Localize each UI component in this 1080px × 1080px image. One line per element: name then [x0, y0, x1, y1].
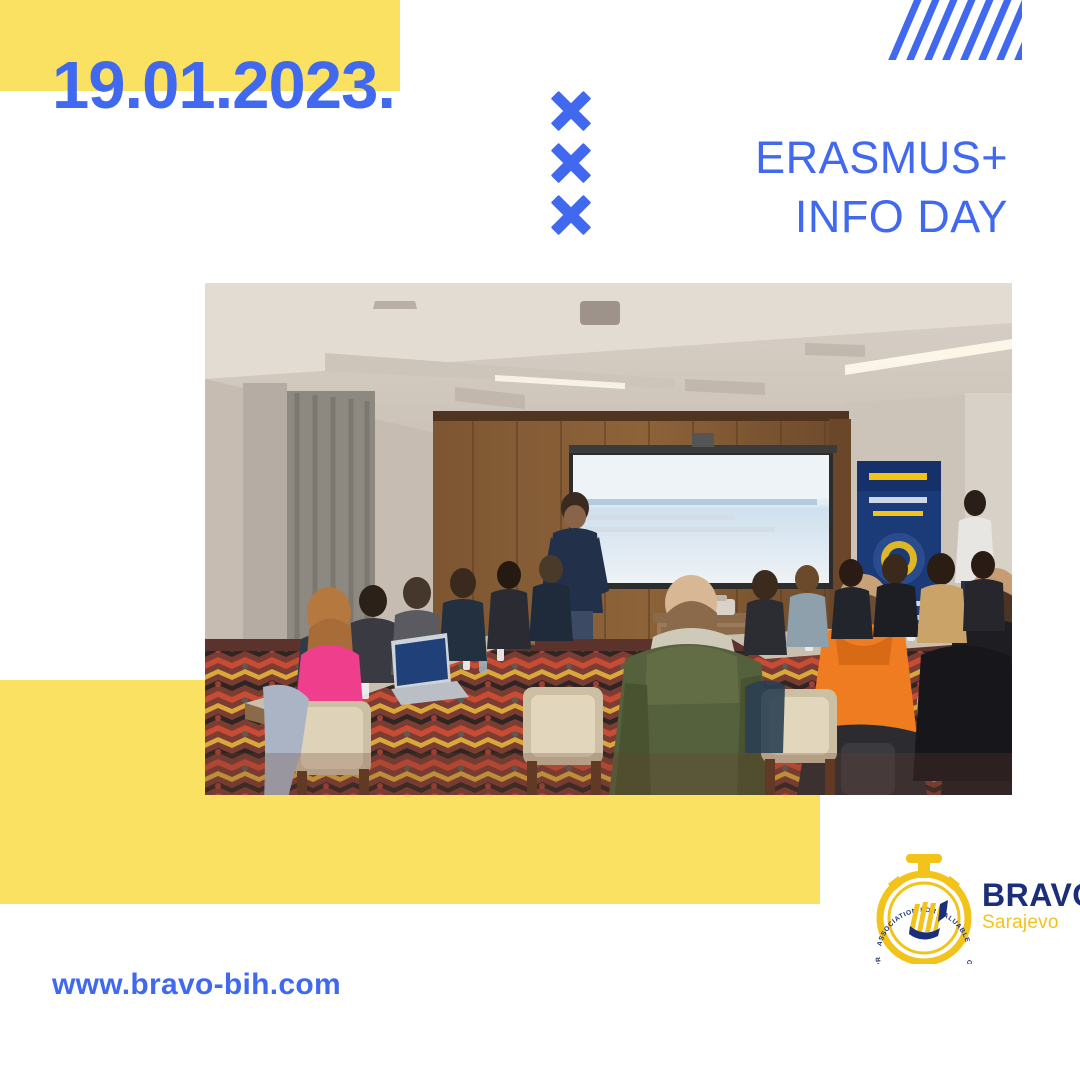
poster-canvas: 19.01.2023. ERASMUS+ INFO DAY: [0, 0, 1080, 1080]
logo-wordmark: BRAVO Sarajevo: [982, 879, 1080, 932]
event-title-line-2: INFO DAY: [755, 187, 1008, 246]
diagonal-stripes-decoration: [862, 0, 1022, 60]
event-title: ERASMUS+ INFO DAY: [755, 128, 1008, 247]
logo-brand-name: BRAVO: [982, 879, 1080, 911]
x-marks-decoration: [550, 90, 592, 236]
x-icon: [550, 142, 592, 184]
stopwatch-icon: ASSOCIATION FOR VALUABLE OPPORTUNITIES •…: [868, 846, 980, 964]
bravo-logo: ASSOCIATION FOR VALUABLE OPPORTUNITIES •…: [868, 846, 1060, 964]
event-date: 19.01.2023.: [52, 52, 395, 119]
event-photo: [205, 283, 1012, 795]
event-title-line-1: ERASMUS+: [755, 128, 1008, 187]
x-icon: [550, 194, 592, 236]
website-url[interactable]: www.bravo-bih.com: [52, 968, 341, 1002]
logo-city-name: Sarajevo: [982, 913, 1080, 932]
x-icon: [550, 90, 592, 132]
